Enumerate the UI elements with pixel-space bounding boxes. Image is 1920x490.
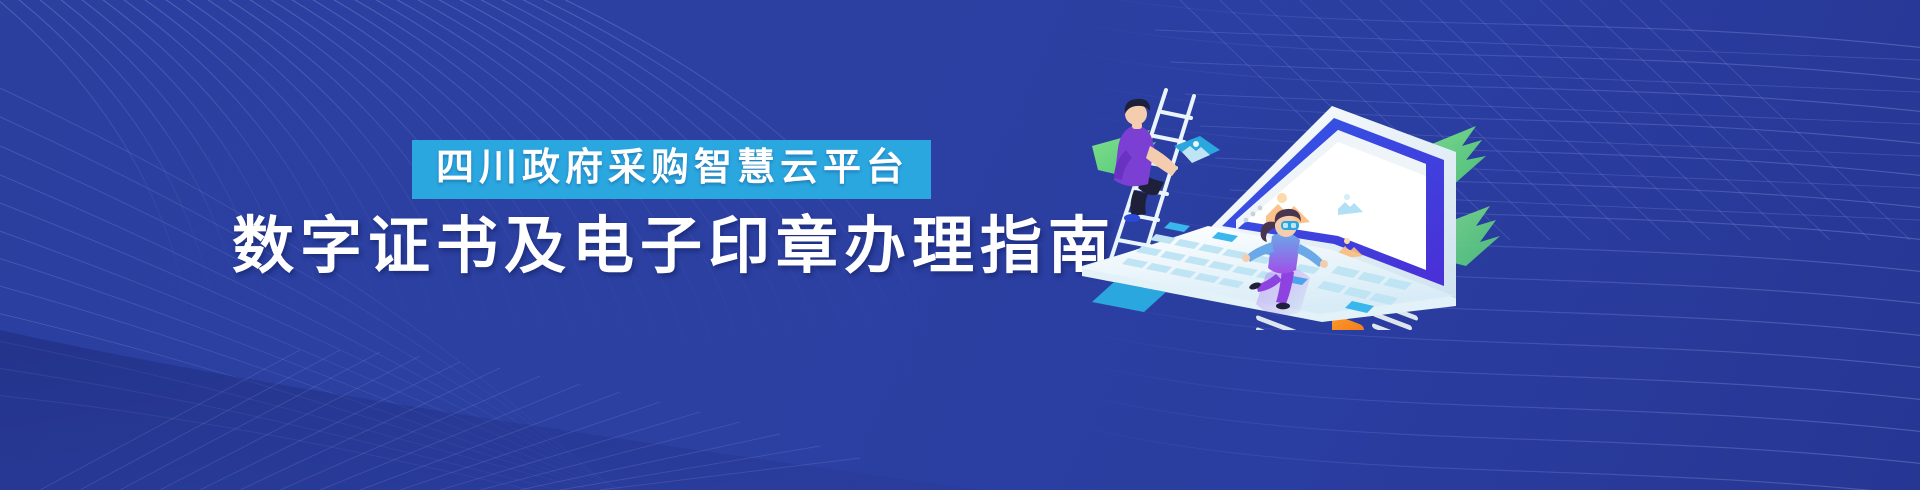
subtitle-badge: 四川政府采购智慧云平台	[412, 140, 931, 199]
page-title: 数字证书及电子印章办理指南	[232, 213, 992, 281]
banner-text-block: 四川政府采购智慧云平台 数字证书及电子印章办理指南	[232, 140, 992, 281]
promo-banner: 四川政府采购智慧云平台 数字证书及电子印章办理指南	[0, 0, 1920, 490]
person-on-ladder	[1114, 99, 1178, 222]
hero-illustration	[1070, 30, 1500, 330]
